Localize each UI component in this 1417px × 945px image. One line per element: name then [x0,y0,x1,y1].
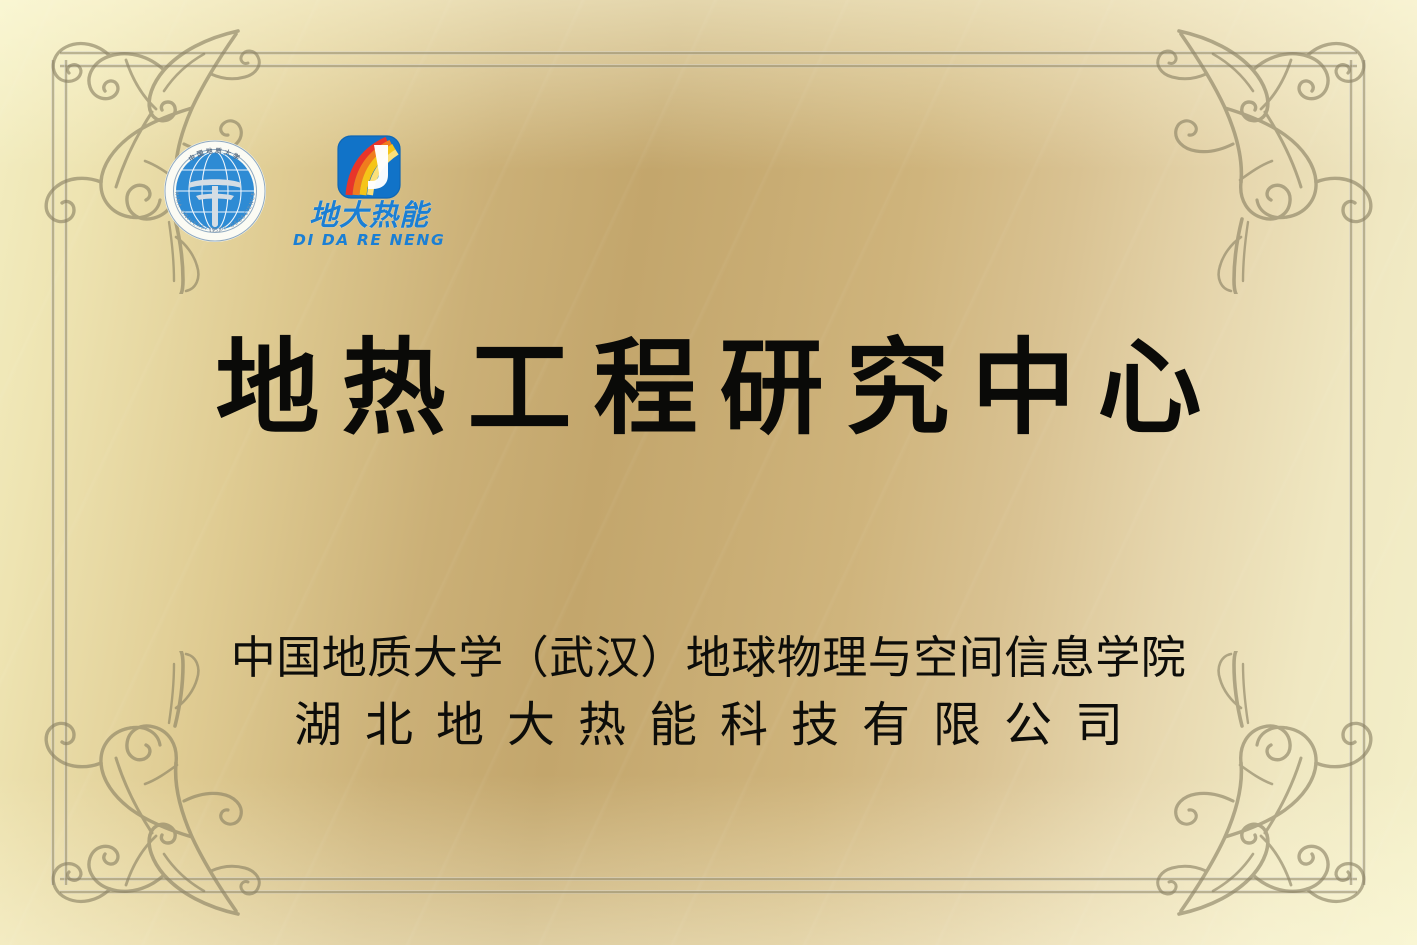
frame-line-bottom-outer [60,890,1357,894]
subtitle-line-university: 中国地质大学（武汉）地球物理与空间信息学院 [0,630,1417,686]
didareneng-chinese-name: 地大热能 [309,201,429,230]
frame-line-right-outer [1362,60,1366,885]
frame-line-left-inner [64,60,68,885]
frame-line-top-inner [60,64,1357,68]
didareneng-mark-icon [337,135,401,199]
frame-line-bottom-inner [60,877,1357,881]
logo-row: 中国地质大学 CHINA UNIVERSITY OF GEOSCIENCES 1… [163,133,445,249]
frame-line-right-inner [1349,60,1353,885]
subtitle-line-company: 湖北地大热能科技有限公司 [0,694,1417,756]
china-university-of-geosciences-seal-icon: 中国地质大学 CHINA UNIVERSITY OF GEOSCIENCES 1… [163,139,267,243]
frame-line-top-outer [60,51,1357,55]
frame-line-left-outer [51,60,55,885]
award-plaque: 中国地质大学 CHINA UNIVERSITY OF GEOSCIENCES 1… [0,0,1417,945]
corner-ornament-top-right-icon [1111,4,1411,294]
didareneng-logo: 地大热能 DI DA RE NENG [293,135,445,249]
subtitle-block: 中国地质大学（武汉）地球物理与空间信息学院 湖北地大热能科技有限公司 [0,630,1417,757]
page-title: 地热工程研究中心 [0,330,1417,446]
svg-text:1952: 1952 [209,228,222,234]
didareneng-pinyin: DI DA RE NENG [293,233,445,249]
